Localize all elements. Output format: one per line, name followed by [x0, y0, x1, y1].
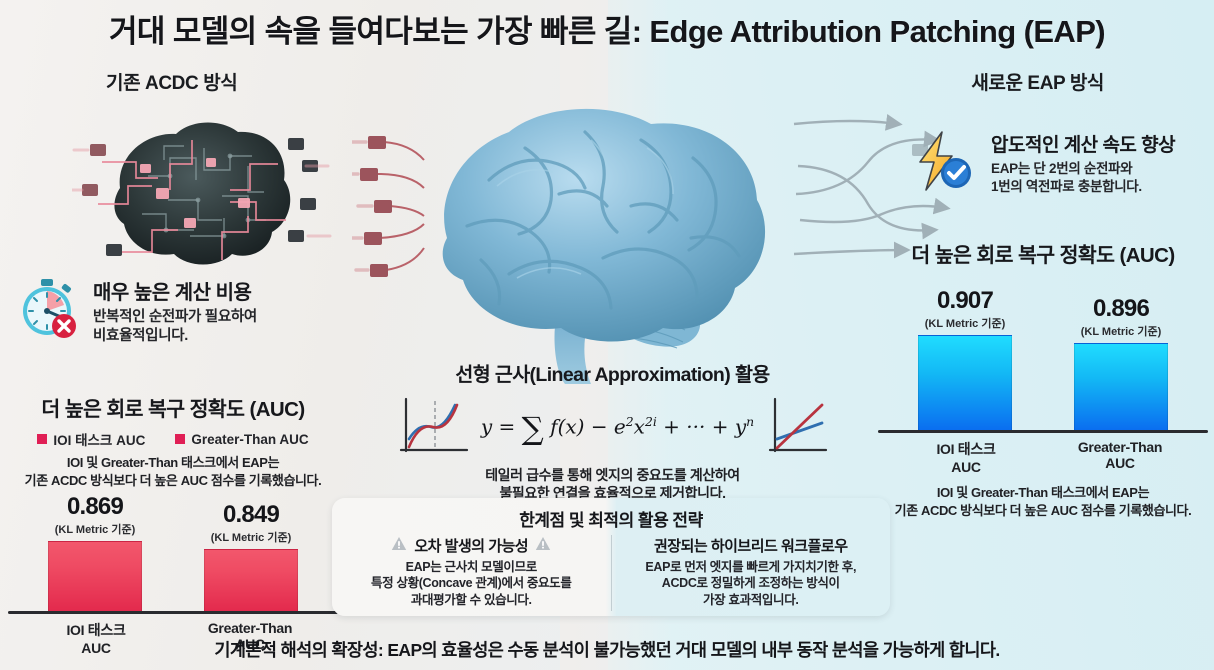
acdc-chart-note: IOI 및 Greater-Than 태스크에서 EAP는기존 ACDC 방식보… — [8, 454, 338, 489]
acdc-auc-chart: 더 높은 회로 복구 정확도 (AUC) IOI 태스크 AUC Greater… — [8, 392, 338, 656]
infographic-canvas: 거대 모델의 속을 들여다보는 가장 빠른 길: Edge Attributio… — [0, 0, 1214, 670]
warning-triangle-icon — [535, 536, 551, 555]
x-tick-label: IOI 태스크 AUC — [920, 439, 1012, 475]
acdc-chart-axis — [8, 611, 338, 614]
x-tick-label: Greater-Than AUC — [1074, 439, 1166, 475]
feature-cost-heading: 매우 높은 계산 비용 — [93, 276, 257, 305]
acdc-chart-legend: IOI 태스크 AUC Greater-Than AUC — [8, 429, 338, 449]
bar-value: 0.907 — [937, 289, 993, 313]
acdc-chart-title: 더 높은 회로 복구 정확도 (AUC) — [8, 392, 338, 422]
bar-value: 0.896 — [1093, 297, 1149, 321]
bar-sublabel: (KL Metric 기준) — [211, 529, 292, 545]
eap-chart-axis — [878, 430, 1208, 433]
card-column-workflow: 권장되는 하이브리드 워크플로우 EAP로 먼저 엣지를 빠르게 가지치기한 후… — [611, 535, 891, 611]
legend-label: IOI 태스크 AUC — [53, 429, 145, 449]
sigmoid-curve-icon — [395, 395, 471, 462]
linear-approximation-section: 선형 근사(Linear Approximation) 활용 y = ∑ f(x… — [385, 358, 840, 502]
card-column-limitation: 오차 발생의 가능성 EAP는 근사치 모델이므로특정 상황(Concave 관… — [332, 535, 611, 611]
bar-value: 0.869 — [67, 495, 123, 519]
feature-speed-body: EAP는 단 2번의 순전파와1번의 역전파로 충분합니다. — [991, 160, 1175, 196]
bar-ioi — [918, 335, 1012, 430]
acdc-plot-area: 0.869 (KL Metric 기준) 0.849 (KL Metric 기준… — [8, 495, 338, 611]
feature-high-cost: 매우 높은 계산 비용 반복적인 순전파가 필요하여비효율적입니다. — [16, 276, 336, 346]
bar-value: 0.849 — [223, 503, 279, 527]
bar-sublabel: (KL Metric 기준) — [1081, 323, 1162, 339]
warning-triangle-icon — [391, 536, 407, 555]
column-heading-acdc: 기존 ACDC 방식 — [106, 68, 237, 95]
bar-sublabel: (KL Metric 기준) — [925, 315, 1006, 331]
blue-brain-illustration — [405, 88, 805, 388]
card-heading: 한계점 및 최적의 활용 전략 — [332, 506, 890, 531]
column-heading-eap: 새로운 EAP 방식 — [971, 68, 1104, 95]
card-workflow-heading: 권장되는 하이브리드 워크플로우 — [622, 535, 881, 556]
feature-speed-heading: 압도적인 계산 속도 향상 — [991, 130, 1175, 157]
bar-sublabel: (KL Metric 기준) — [55, 521, 136, 537]
bar-greater-than — [204, 549, 298, 611]
bar-ioi — [48, 541, 142, 611]
eap-auc-chart: 더 높은 회로 복구 정확도 (AUC) 0.907 (KL Metric 기준… — [878, 238, 1208, 519]
lightning-check-icon — [912, 130, 978, 197]
legend-item: Greater-Than AUC — [175, 429, 308, 449]
bottom-banner: 기계론적 해석의 확장성: EAP의 효율성은 수동 분석이 불가능했던 거대 … — [0, 637, 1214, 662]
bar-group-greater-than: 0.896 (KL Metric 기준) — [1074, 280, 1168, 430]
feature-speed-boost: 압도적인 계산 속도 향상 EAP는 단 2번의 순전파와1번의 역전파로 충분… — [912, 130, 1207, 197]
linear-lines-icon — [764, 395, 830, 462]
linear-approximation-body: 테일러 급수를 통해 엣지의 중요도를 계산하여불필요한 연결을 효율적으로 제… — [385, 466, 840, 502]
bar-group-ioi: 0.869 (KL Metric 기준) — [48, 495, 142, 611]
card-limitation-heading: 오차 발생의 가능성 — [342, 535, 601, 556]
bar-greater-than — [1074, 343, 1168, 430]
page-title: 거대 모델의 속을 들여다보는 가장 빠른 길: Edge Attributio… — [0, 6, 1214, 51]
eap-chart-title: 더 높은 회로 복구 정확도 (AUC) — [878, 238, 1208, 268]
feature-cost-body: 반복적인 순전파가 필요하여비효율적입니다. — [93, 308, 257, 346]
bar-group-greater-than: 0.849 (KL Metric 기준) — [204, 495, 298, 611]
card-limitation-title: 오차 발생의 가능성 — [414, 535, 528, 556]
legend-label: Greater-Than AUC — [191, 432, 308, 447]
circuit-brain-illustration — [72, 104, 332, 294]
eap-plot-area: 0.907 (KL Metric 기준) 0.896 (KL Metric 기준… — [878, 280, 1208, 430]
legend-swatch-ioi — [37, 434, 47, 444]
eap-chart-note: IOI 및 Greater-Than 태스크에서 EAP는기존 ACDC 방식보… — [878, 484, 1208, 519]
card-workflow-body: EAP로 먼저 엣지를 빠르게 가지치기한 후,ACDC로 정밀하게 조정하는 … — [622, 559, 881, 608]
card-limitation-body: EAP는 근사치 모델이므로특정 상황(Concave 관계)에서 중요도를과대… — [342, 559, 601, 608]
input-connectors — [352, 128, 432, 288]
limitations-strategy-card: 한계점 및 최적의 활용 전략 오차 발생의 가능성 EAP는 근사치 모델이므… — [332, 498, 890, 616]
bar-group-ioi: 0.907 (KL Metric 기준) — [918, 280, 1012, 430]
taylor-formula: y = ∑ f(x) − e2x2i + ··· + yn — [481, 411, 754, 447]
legend-swatch-greater-than — [175, 434, 185, 444]
legend-item: IOI 태스크 AUC — [37, 429, 145, 449]
stopwatch-error-icon — [16, 276, 80, 345]
linear-approximation-heading: 선형 근사(Linear Approximation) 활용 — [385, 358, 840, 387]
